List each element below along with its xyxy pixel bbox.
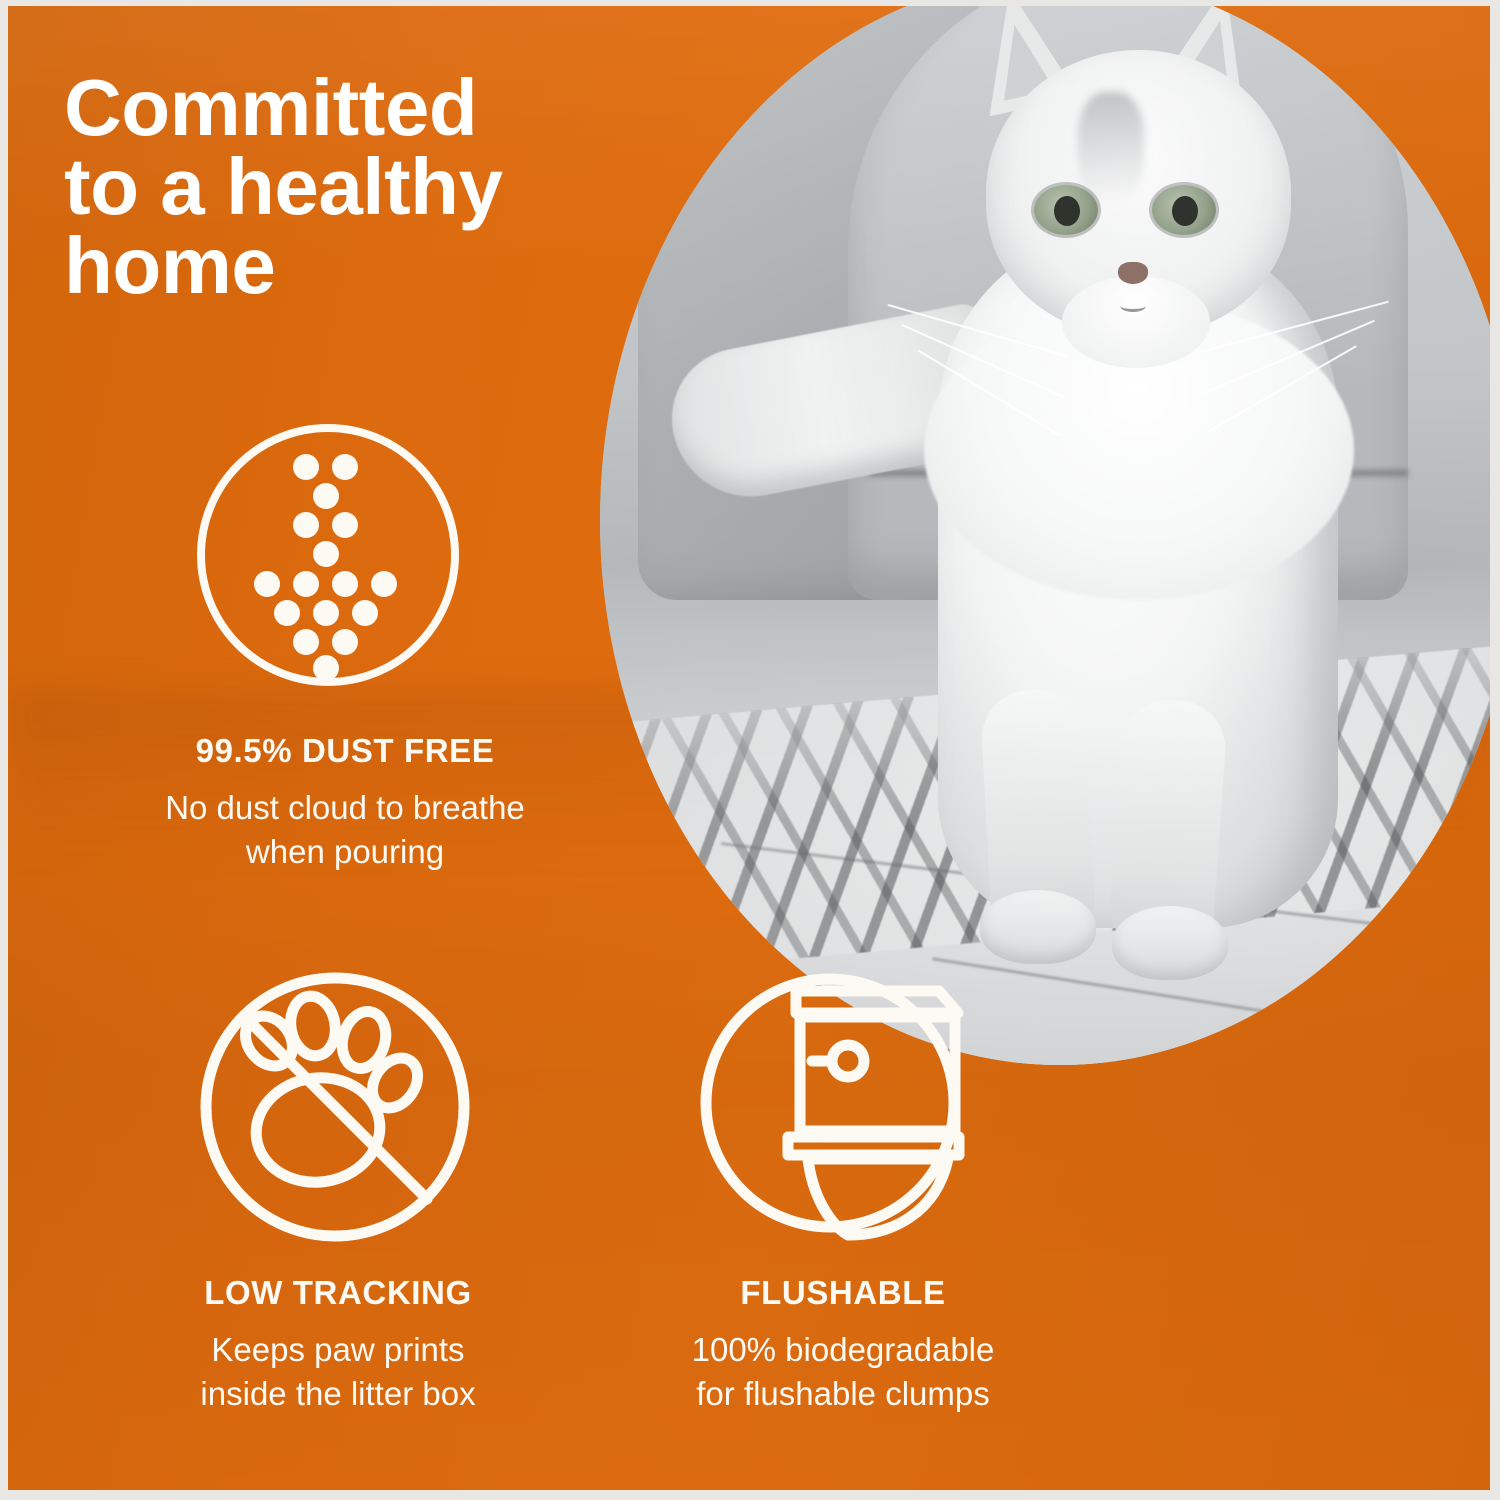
- feature-dust-free: 99.5% DUST FREE No dust cloud to breathe…: [40, 732, 650, 873]
- feature-title: 99.5% DUST FREE: [40, 732, 650, 770]
- falling-dust-arrow-icon: [193, 424, 463, 686]
- feature-description: No dust cloud to breathe when pouring: [40, 786, 650, 873]
- feature-title: LOW TRACKING: [54, 1274, 622, 1312]
- feature-title: FLUSHABLE: [583, 1274, 1103, 1312]
- no-paw-print-icon: [196, 968, 474, 1246]
- cat-pupil: [1054, 196, 1080, 226]
- cat-photo: [598, 6, 1490, 1085]
- feature-description: Keeps paw prints inside the litter box: [54, 1328, 622, 1415]
- cat-muzzle: [1062, 276, 1210, 368]
- cat-mouth: [1120, 300, 1146, 312]
- feature-flushable: FLUSHABLE 100% biodegradable for flushab…: [583, 1274, 1103, 1415]
- cat-forehead-marking: [1078, 92, 1144, 202]
- product-benefits-poster: Committed to a healthy home: [0, 0, 1500, 1500]
- page-title: Committed to a healthy home: [64, 68, 664, 306]
- poster-canvas: Committed to a healthy home: [8, 6, 1490, 1490]
- cat-paw: [980, 890, 1096, 964]
- cat-nose: [1118, 262, 1148, 284]
- toilet-icon: [696, 969, 964, 1237]
- feature-low-tracking: LOW TRACKING Keeps paw prints inside the…: [54, 1274, 622, 1415]
- feature-description: 100% biodegradable for flushable clumps: [583, 1328, 1103, 1415]
- cat-figure: [866, 6, 1426, 1020]
- cat-paw: [1112, 906, 1228, 980]
- cat-pupil: [1172, 196, 1198, 226]
